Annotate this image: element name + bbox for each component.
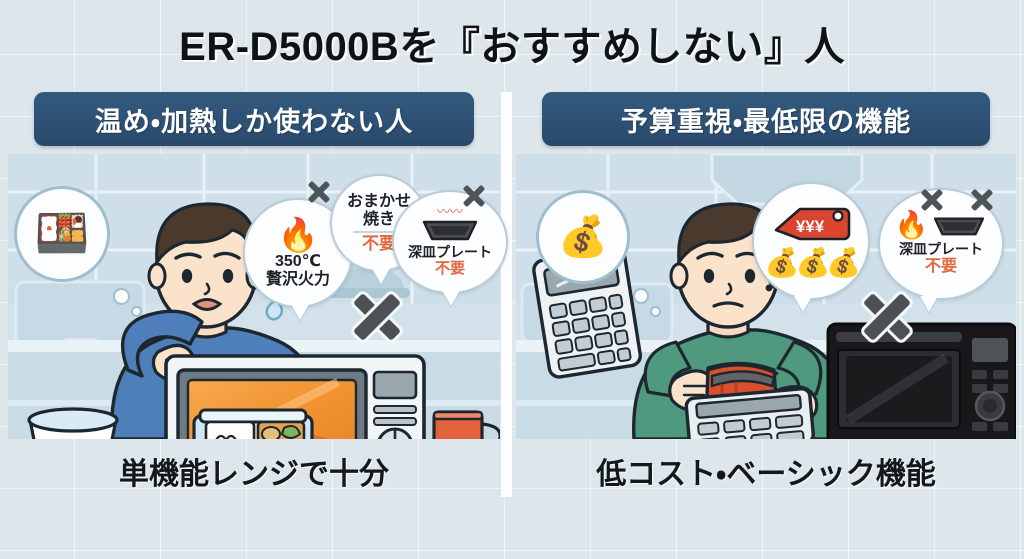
deep-tray-icon	[421, 217, 479, 243]
x-mark-small-right-b	[968, 186, 996, 214]
thought-bubble-bento: 🍱	[14, 186, 110, 282]
bubble-left-omakase-line1: おまかせ	[347, 193, 411, 211]
thought-dot-large	[113, 288, 130, 305]
money-bags-icon: 💰	[558, 217, 608, 257]
bubble-tail	[794, 296, 812, 312]
thought-bubble-money: 💰	[536, 190, 630, 284]
panel-right-caption-label: 低コスト・ベーシック機能	[596, 449, 936, 493]
x-mark-left-oven	[348, 288, 406, 346]
price-tag-text: ¥¥¥	[796, 217, 825, 236]
x-mark-small-omakase	[305, 178, 333, 206]
bubble-left-flame-line1: 350℃	[275, 253, 321, 271]
bubble-left-tray: 〰〰 深皿プレート 不要	[392, 190, 508, 294]
panel-right-banner: 予算重視・最低限の機能	[542, 92, 990, 146]
thought-dot-large	[633, 288, 649, 304]
deep-tray-icon	[931, 214, 987, 238]
bubble-tail	[920, 296, 938, 312]
x-mark-right-oven	[858, 288, 916, 346]
infographic-canvas: ER-D5000Bを『おすすめしない』人 温め・加熱しか使わない人	[0, 0, 1024, 559]
panel-right-banner-label: 予算重視・最低限の機能	[621, 100, 911, 139]
bento-box-icon: 🍱	[35, 212, 90, 256]
panel-left-caption-label: 単機能レンジで十分	[119, 449, 389, 493]
flame-icon: 🔥	[277, 218, 318, 251]
bubble-left-tray-label: 深皿プレート	[408, 245, 492, 261]
bubble-right-tray-negation: 不要	[925, 258, 957, 276]
bubble-right-tray-label: 深皿プレート	[899, 242, 983, 258]
bubble-right-price: ¥¥¥ 💰💰💰	[752, 182, 870, 300]
x-mark-small-tray	[460, 182, 488, 210]
thought-dot-small	[131, 306, 142, 317]
bubble-tail	[291, 304, 309, 320]
panel-left-caption: 単機能レンジで十分	[8, 444, 500, 497]
bubble-left-omakase-negation: 不要	[362, 235, 396, 254]
thought-dot-small	[650, 306, 661, 317]
panel-left: 温め・加熱しか使わない人	[8, 92, 500, 497]
bubble-left-omakase-line2: 焼き	[363, 211, 395, 229]
bubble-tail	[442, 290, 460, 306]
bubble-tail	[372, 268, 390, 284]
flame-icon: 🔥	[895, 212, 929, 239]
money-bags-row-icon: 💰💰💰	[765, 249, 858, 277]
bubble-left-tray-negation: 不要	[435, 261, 465, 278]
panel-right-caption: 低コスト・ベーシック機能	[516, 444, 1016, 497]
price-tag-yen-icon: ¥¥¥	[770, 206, 852, 248]
x-mark-small-right-a	[918, 186, 946, 214]
bubble-left-flame-line2: 贅沢火力	[266, 271, 330, 289]
panel-left-banner-label: 温め・加熱しか使わない人	[95, 100, 413, 139]
panel-divider	[501, 92, 512, 497]
page-title: ER-D5000Bを『おすすめしない』人	[0, 14, 1024, 72]
panel-left-banner: 温め・加熱しか使わない人	[34, 92, 474, 146]
